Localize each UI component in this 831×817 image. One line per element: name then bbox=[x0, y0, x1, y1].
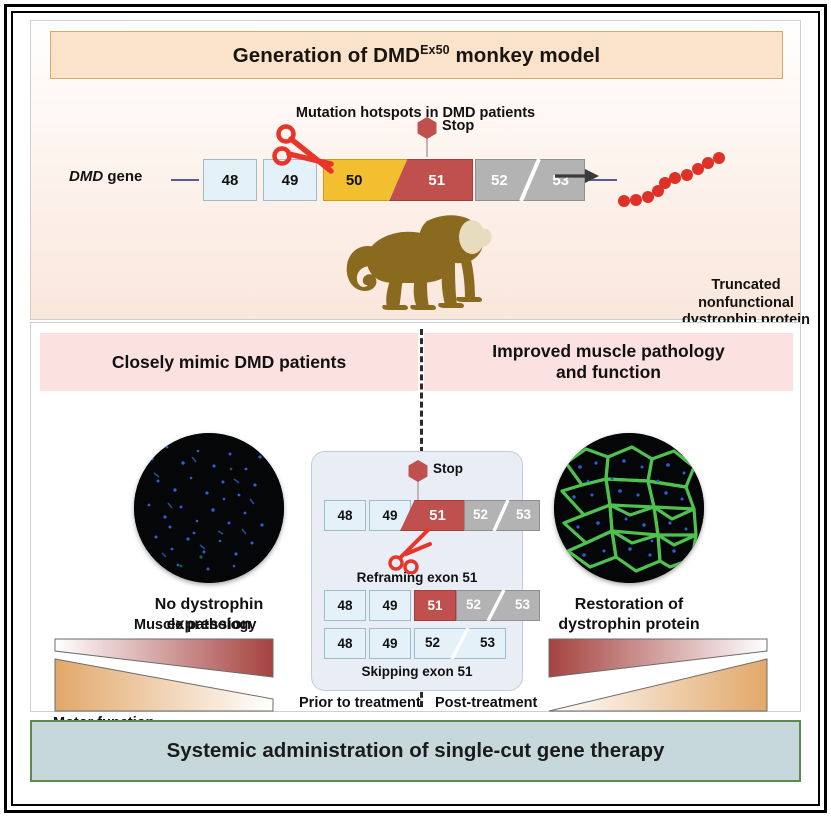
exon-50-label: 50 bbox=[346, 172, 363, 189]
exon-51-label: 51 bbox=[428, 172, 445, 189]
monkey-icon bbox=[331, 207, 503, 316]
top-title-banner: Generation of DMDEx50 monkey model bbox=[50, 31, 783, 79]
card-stop-label: Stop bbox=[433, 461, 463, 476]
title-suffix: monkey model bbox=[450, 43, 601, 66]
wedge-pair-right bbox=[547, 637, 769, 715]
card-top-exon-53: 53 bbox=[516, 507, 531, 522]
arrow-right-icon bbox=[555, 167, 601, 190]
micrograph-treated-caption: Restoration of dystrophin protein bbox=[514, 595, 744, 634]
stop-sign-icon bbox=[416, 117, 438, 139]
card-reframed-exon-51: 51 bbox=[414, 590, 456, 621]
wedge-label-pathology-left: Muscle pathology bbox=[134, 617, 256, 633]
treatment-card: Stop 48 49 51 52 53 bbox=[311, 451, 523, 691]
label-prior-to-treatment: Prior to treatment bbox=[299, 695, 421, 711]
card-reframed-exon-52: 52 bbox=[466, 597, 481, 612]
bottom-panel: Systemic administration of single-cut ge… bbox=[30, 720, 801, 782]
card-skipped-exon-53: 53 bbox=[480, 635, 495, 650]
micrograph-untreated bbox=[134, 433, 284, 583]
card-skipped-exon-49: 49 bbox=[369, 628, 411, 659]
header-right-line1: Improved muscle pathology bbox=[492, 341, 724, 362]
stop-sign-group: Stop bbox=[416, 117, 438, 159]
card-caption-skipping: Skipping exon 51 bbox=[312, 664, 522, 679]
exon-52: 52 bbox=[491, 172, 508, 189]
card-skipped-exon-52: 52 bbox=[425, 635, 440, 650]
header-right-line2: and function bbox=[492, 362, 724, 383]
gene-lead-line bbox=[171, 179, 199, 181]
card-top-exon-51-label: 51 bbox=[429, 507, 446, 524]
top-panel: Generation of DMDEx50 monkey model Mutat… bbox=[30, 20, 801, 320]
card-stop-group: Stop bbox=[407, 460, 429, 502]
dmd-gene-rest: gene bbox=[103, 168, 142, 185]
dmd-gene-label: DMD gene bbox=[69, 168, 142, 185]
card-top-exon-52: 52 bbox=[473, 507, 488, 522]
label-post-treatment: Post-treatment bbox=[435, 695, 537, 711]
card-skipped-exon-48: 48 bbox=[324, 628, 366, 659]
card-caption-reframing: Reframing exon 51 bbox=[312, 570, 522, 585]
caption-right-line1: Restoration of bbox=[514, 595, 744, 615]
page-title: Generation of DMDEx50 monkey model bbox=[233, 43, 600, 68]
figure-root: Generation of DMDEx50 monkey model Mutat… bbox=[0, 0, 831, 817]
title-prefix: Generation of DMD bbox=[233, 43, 420, 66]
header-right: Improved muscle pathology and function bbox=[424, 333, 793, 391]
dystrophin-protein-icon bbox=[617, 147, 737, 214]
card-reframed-exon-53: 53 bbox=[515, 597, 530, 612]
dmd-gene-italic: DMD bbox=[69, 168, 103, 185]
stop-label: Stop bbox=[442, 118, 474, 134]
card-reframed-exon-49: 49 bbox=[369, 590, 411, 621]
micrograph-treated bbox=[554, 433, 704, 583]
card-reframed-exon-48: 48 bbox=[324, 590, 366, 621]
scissors-icon bbox=[269, 123, 345, 190]
middle-panel: Closely mimic DMD patients Improved musc… bbox=[30, 322, 801, 712]
caption-left-line1: No dystrophin bbox=[94, 595, 324, 615]
figure-stage: Generation of DMDEx50 monkey model Mutat… bbox=[20, 20, 811, 797]
bottom-title: Systemic administration of single-cut ge… bbox=[167, 739, 665, 763]
title-superscript: Ex50 bbox=[420, 43, 450, 57]
caption-right-line2: dystrophin protein bbox=[514, 615, 744, 635]
exon-48: 48 bbox=[203, 159, 257, 201]
card-top-exon-48: 48 bbox=[324, 500, 366, 531]
gene-track: DMD gene 48 49 50 51 52 53 bbox=[31, 141, 800, 211]
wedge-pair-left bbox=[53, 637, 275, 715]
header-left: Closely mimic DMD patients bbox=[40, 333, 418, 391]
card-stop-sign-icon bbox=[407, 460, 429, 482]
